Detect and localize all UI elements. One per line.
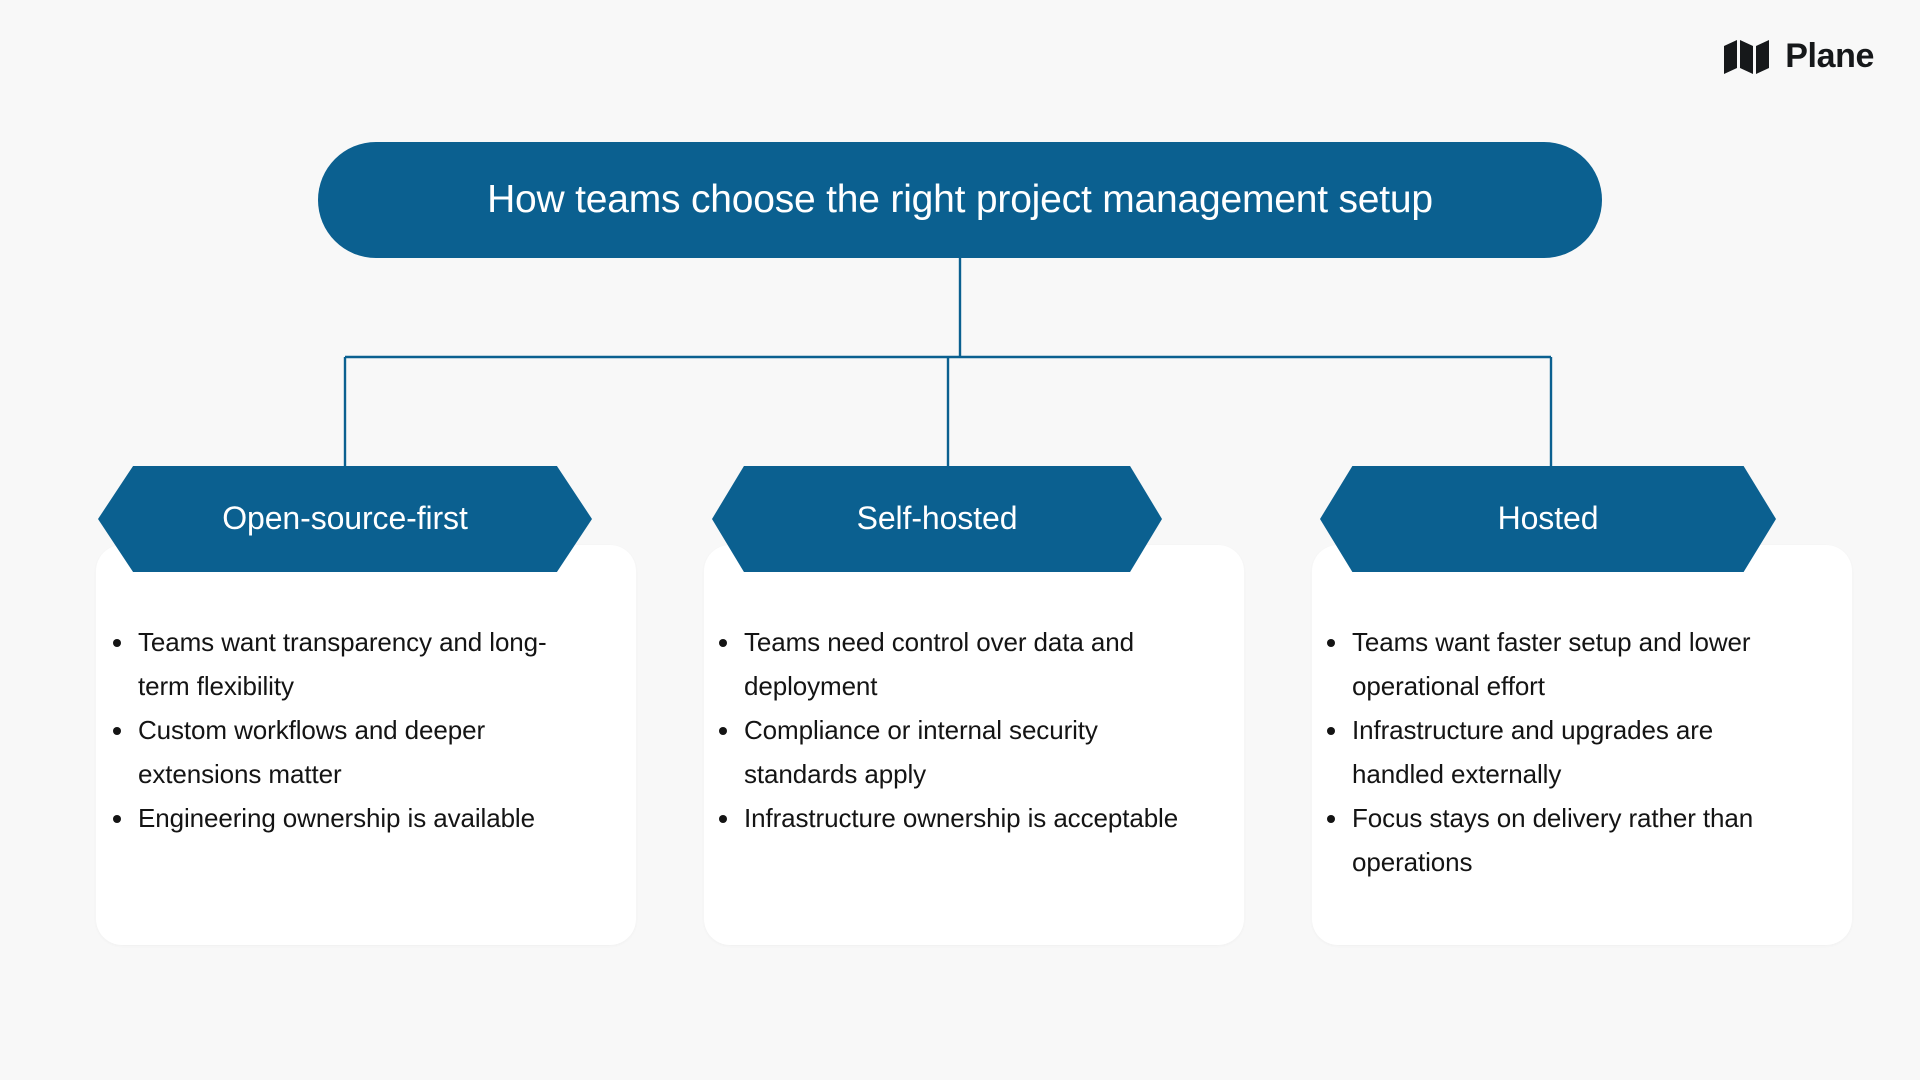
branch-bullet-list: Teams want faster setup and lower operat… — [1288, 620, 1828, 884]
list-item: Infrastructure ownership is acceptable — [744, 796, 1186, 840]
branch-label: Open-source-first — [222, 502, 468, 534]
list-item: Engineering ownership is available — [138, 796, 578, 840]
page-title: How teams choose the right project manag… — [487, 178, 1433, 223]
branch-bullet-list: Teams want transparency and long-term fl… — [72, 620, 612, 840]
branch-bullet-list: Teams need control over data and deploym… — [680, 620, 1220, 840]
list-item: Infrastructure and upgrades are handled … — [1352, 708, 1794, 796]
list-item: Compliance or internal security standard… — [744, 708, 1186, 796]
list-item: Teams want faster setup and lower operat… — [1352, 620, 1794, 708]
branch-header-hexagon: Self-hosted — [712, 466, 1162, 572]
branch-group: Open-source-first Teams want transparenc… — [0, 466, 1920, 956]
list-item: Focus stays on delivery rather than oper… — [1352, 796, 1794, 884]
list-item: Custom workflows and deeper extensions m… — [138, 708, 578, 796]
branch-header-hexagon: Open-source-first — [98, 466, 592, 572]
brand-logo: Plane — [1723, 34, 1874, 80]
branch-hosted: Hosted Teams want faster setup and lower… — [1288, 466, 1828, 956]
list-item: Teams need control over data and deploym… — [744, 620, 1186, 708]
plane-logo-icon — [1723, 39, 1773, 75]
branch-label: Hosted — [1498, 502, 1599, 534]
diagram-canvas: Plane How teams choose the right project… — [0, 0, 1920, 1080]
root-node: How teams choose the right project manag… — [318, 142, 1602, 258]
brand-name: Plane — [1785, 39, 1874, 75]
branch-label: Self-hosted — [857, 502, 1018, 534]
branch-header-hexagon: Hosted — [1320, 466, 1776, 572]
branch-self-hosted: Self-hosted Teams need control over data… — [680, 466, 1220, 956]
list-item: Teams want transparency and long-term fl… — [138, 620, 578, 708]
branch-open-source-first: Open-source-first Teams want transparenc… — [72, 466, 612, 956]
